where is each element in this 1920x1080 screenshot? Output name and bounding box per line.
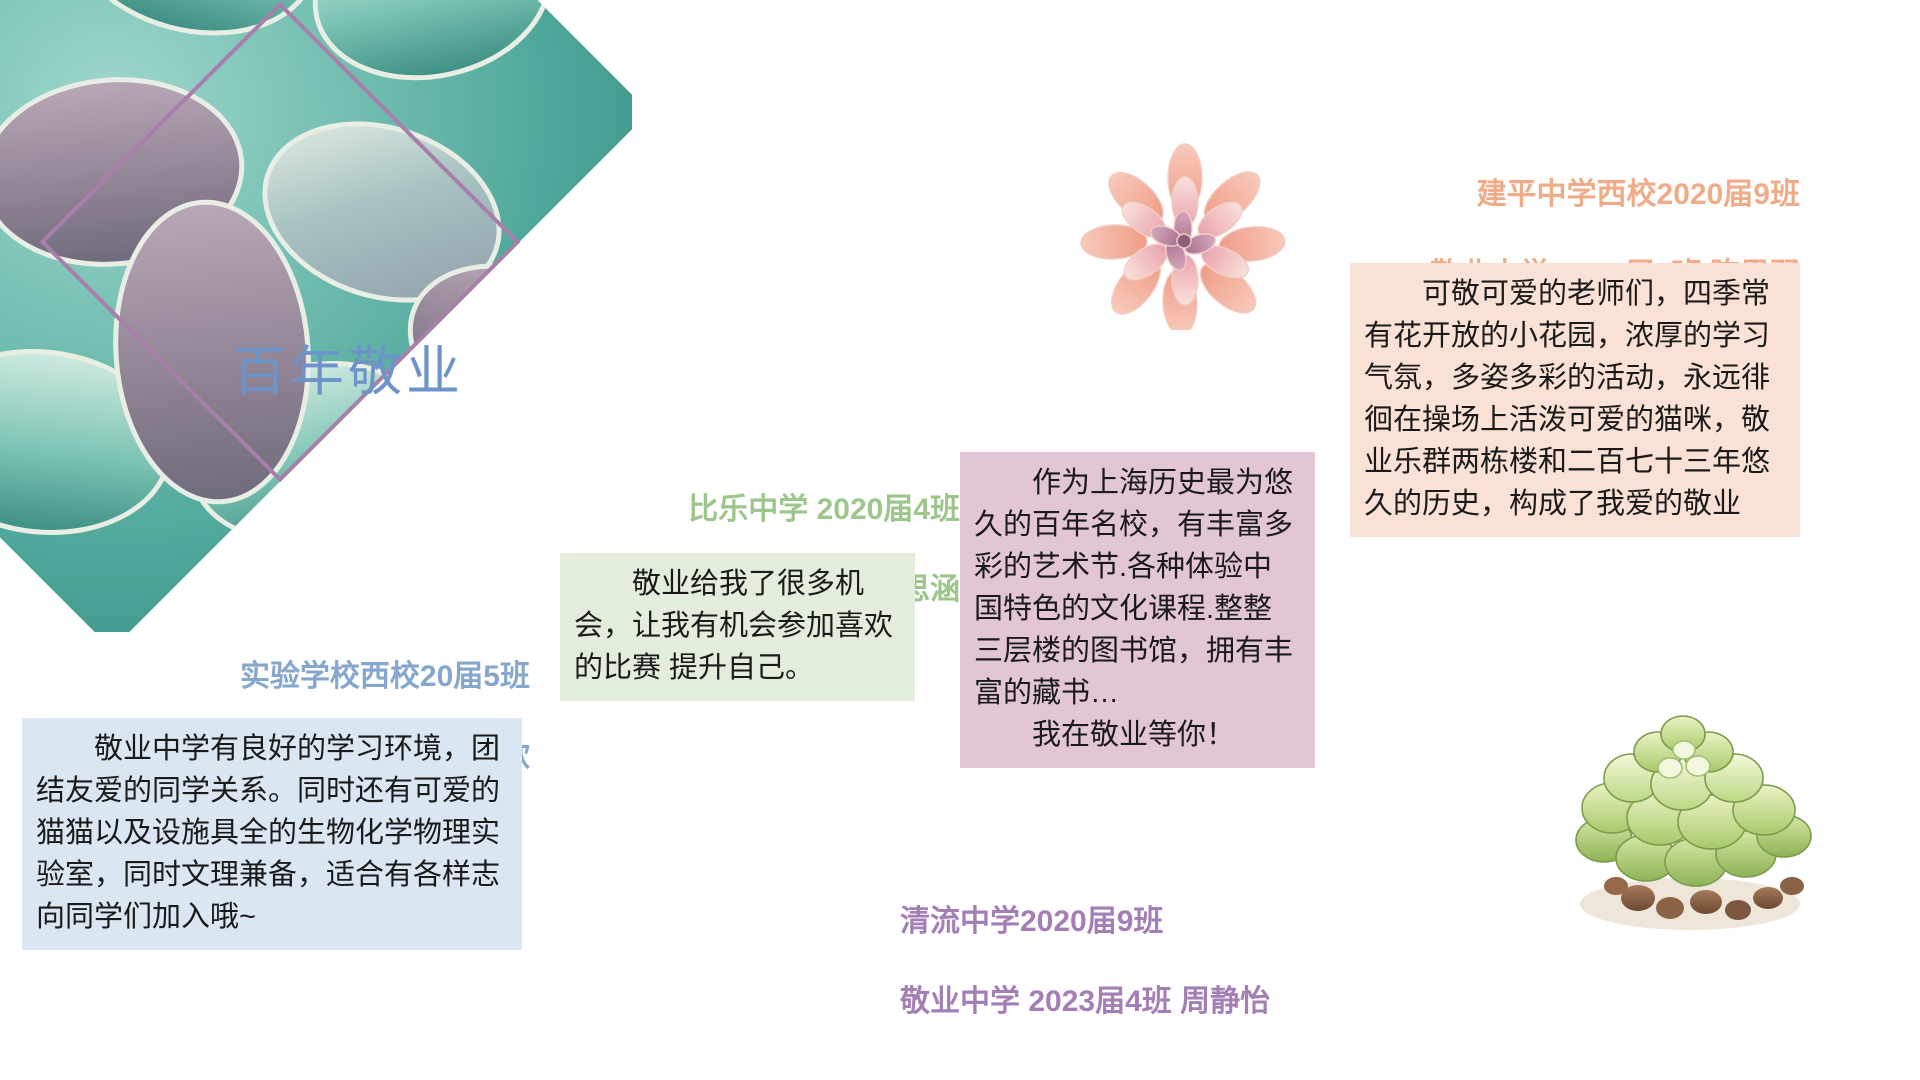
heading-line-1: 清流中学2020届9班 — [900, 902, 1600, 942]
testimonial-body-blue: 敬业中学有良好的学习环境，团结友爱的同学关系。同时还有可爱的猫猫以及设施具全的生… — [22, 718, 522, 950]
page-title: 百年敬业 — [232, 327, 464, 406]
heading-line-1: 比乐中学 2020届4班 — [300, 490, 960, 530]
slide-canvas: 百年敬业 — [0, 0, 1920, 1080]
heading-line-1: 实验学校西校20届5班 — [60, 657, 530, 697]
testimonial-body-green: 敬业给我了很多机会，让我有机会参加喜欢的比赛 提升自己。 — [560, 553, 915, 701]
heading-line-1: 建平中学西校2020届9班 — [1240, 175, 1800, 215]
testimonial-body-orange: 可敬可爱的老师们，四季常有花开放的小花园，浓厚的学习气氛，多姿多彩的活动，永远徘… — [1350, 263, 1800, 537]
testimonial-body-mauve: 作为上海历史最为悠久的百年名校，有丰富多彩的艺术节.各种体验中国特色的文化课程.… — [960, 452, 1315, 768]
green-cabbage-succulent-icon — [1520, 690, 1840, 950]
heading-line-2: 敬业中学 2023届4班 周静怡 — [900, 982, 1600, 1022]
testimonial-heading-mauve: 清流中学2020届9班 敬业中学 2023届4班 周静怡 — [700, 862, 1600, 1062]
